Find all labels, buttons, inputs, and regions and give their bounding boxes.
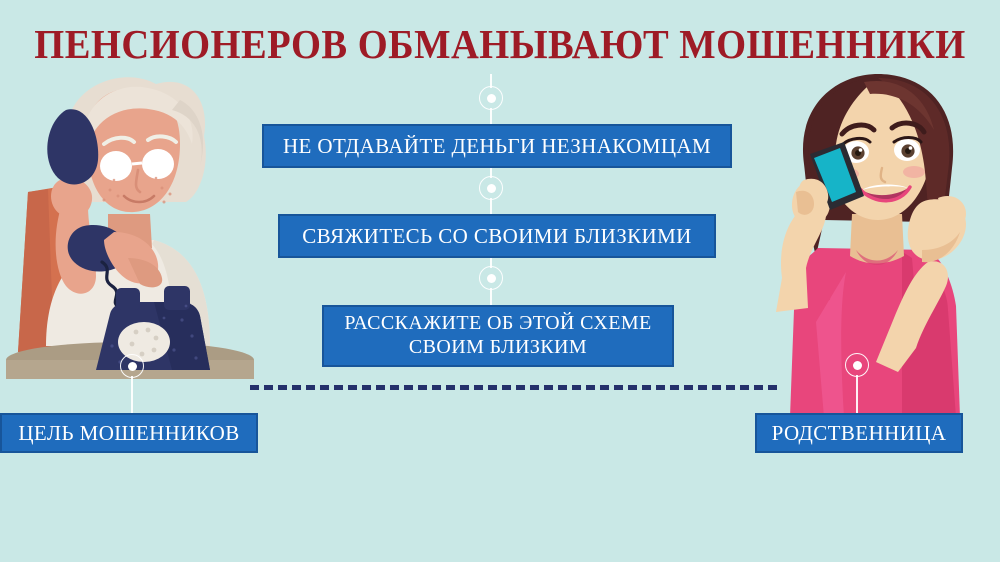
illustration-young-woman [752,72,1000,417]
label-relative[interactable]: РОДСТВЕННИЦА [755,413,963,453]
tip-box-3-line-2: СВОИМ БЛИЗКИМ [409,336,587,360]
connector-node-icon [479,86,503,110]
dashed-divider-icon [250,385,777,390]
connector-node-icon [479,266,503,290]
infographic-canvas: ПЕНСИОНЕРОВ ОБМАНЫВАЮТ МОШЕННИКИ НЕ ОТДА… [0,0,1000,562]
page-title: ПЕНСИОНЕРОВ ОБМАНЫВАЮТ МОШЕННИКИ [30,24,970,65]
connector-line-right [856,375,858,415]
tip-box-3-line-1: РАССКАЖИТЕ ОБ ЭТОЙ СХЕМЕ [344,312,651,336]
tip-box-2[interactable]: СВЯЖИТЕСЬ СО СВОИМИ БЛИЗКИМИ [278,214,716,258]
illustration-elderly-woman [4,74,254,379]
label-scammers-target[interactable]: ЦЕЛЬ МОШЕННИКОВ [0,413,258,453]
connector-line-left [131,376,133,415]
tip-box-3[interactable]: РАССКАЖИТЕ ОБ ЭТОЙ СХЕМЕ СВОИМ БЛИЗКИМ [322,305,674,367]
connector-node-icon-right [845,353,869,377]
connector-node-icon-left [120,354,144,378]
tip-box-1-text: НЕ ОТДАВАЙТЕ ДЕНЬГИ НЕЗНАКОМЦАМ [283,134,711,159]
connector-node-icon [479,176,503,200]
tip-box-2-text: СВЯЖИТЕСЬ СО СВОИМИ БЛИЗКИМИ [302,224,691,249]
tip-box-1[interactable]: НЕ ОТДАВАЙТЕ ДЕНЬГИ НЕЗНАКОМЦАМ [262,124,732,168]
label-relative-text: РОДСТВЕННИЦА [772,421,947,446]
label-scammers-target-text: ЦЕЛЬ МОШЕННИКОВ [18,421,239,446]
